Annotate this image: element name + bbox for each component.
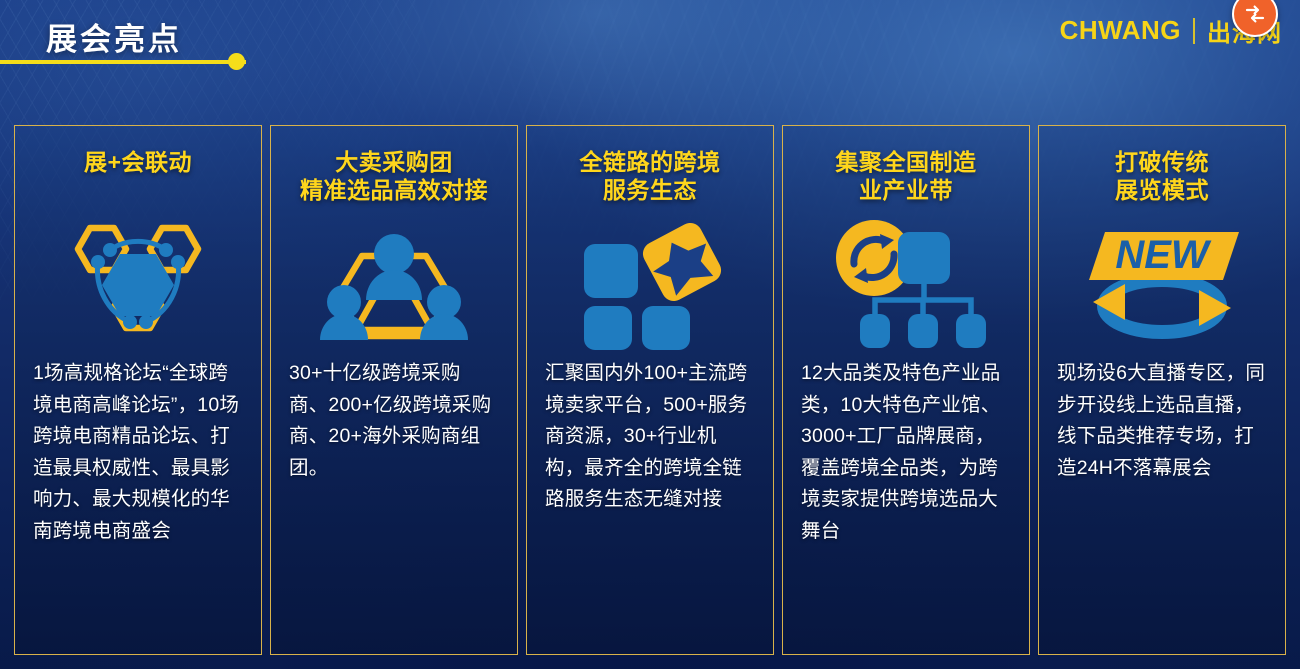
- card-title: 集聚全国制造业产业带: [836, 148, 977, 206]
- title-underline-dot: [228, 53, 245, 70]
- page-header: 展会亮点 CHWANG 出海网: [0, 0, 1300, 120]
- highlight-card-5[interactable]: 打破传统展览模式 NEW 现场设6大直播专区，同步开设线上选品直播，线下品类推荐…: [1038, 125, 1286, 655]
- brand-logo[interactable]: CHWANG 出海网: [1060, 13, 1282, 48]
- card-body: 汇聚国内外100+主流跨境卖家平台，500+服务商资源，30+行业机构，最齐全的…: [541, 358, 759, 516]
- card-title: 全链路的跨境服务生态: [580, 148, 721, 206]
- highlight-card-2[interactable]: 大卖采购团精准选品高效对接 30+十亿级跨境采购商、200+亿级跨境采购商、20…: [270, 125, 518, 655]
- highlight-card-4[interactable]: 集聚全国制造业产业带: [782, 125, 1030, 655]
- new-cycle-icon: NEW: [1067, 210, 1257, 350]
- card-body: 现场设6大直播专区，同步开设线上选品直播，线下品类推荐专场，打造24H不落幕展会: [1053, 358, 1271, 484]
- brand-divider: [1193, 18, 1195, 44]
- card-title: 大卖采购团精准选品高效对接: [300, 148, 488, 206]
- brand-wordmark: CHWANG: [1060, 15, 1181, 46]
- card-title: 打破传统展览模式: [1115, 148, 1209, 206]
- hexagon-network-icon: [48, 210, 228, 350]
- card-body: 30+十亿级跨境采购商、200+亿级跨境采购商、20+海外采购商组团。: [285, 358, 503, 484]
- highlight-cards: 展+会联动 1场高规: [14, 125, 1286, 655]
- card-title: 展+会联动: [84, 148, 192, 206]
- svg-text:NEW: NEW: [1115, 233, 1212, 277]
- card-body: 12大品类及特色产业品类，10大特色产业馆、3000+工厂品牌展商，覆盖跨境全品…: [797, 358, 1015, 547]
- title-underline: [0, 60, 246, 64]
- people-connection-icon: [304, 210, 484, 350]
- page-title: 展会亮点: [46, 14, 182, 59]
- card-body: 1场高规格论坛“全球跨境电商高峰论坛”，10场跨境电商精品论坛、打造最具权威性、…: [29, 358, 247, 547]
- squares-star-icon: [560, 210, 740, 350]
- recycle-hierarchy-icon: [816, 210, 996, 350]
- highlight-card-3[interactable]: 全链路的跨境服务生态 汇聚国内外100+主流跨境卖家平台，500+服务商资源，3…: [526, 125, 774, 655]
- highlight-card-1[interactable]: 展+会联动 1场高规: [14, 125, 262, 655]
